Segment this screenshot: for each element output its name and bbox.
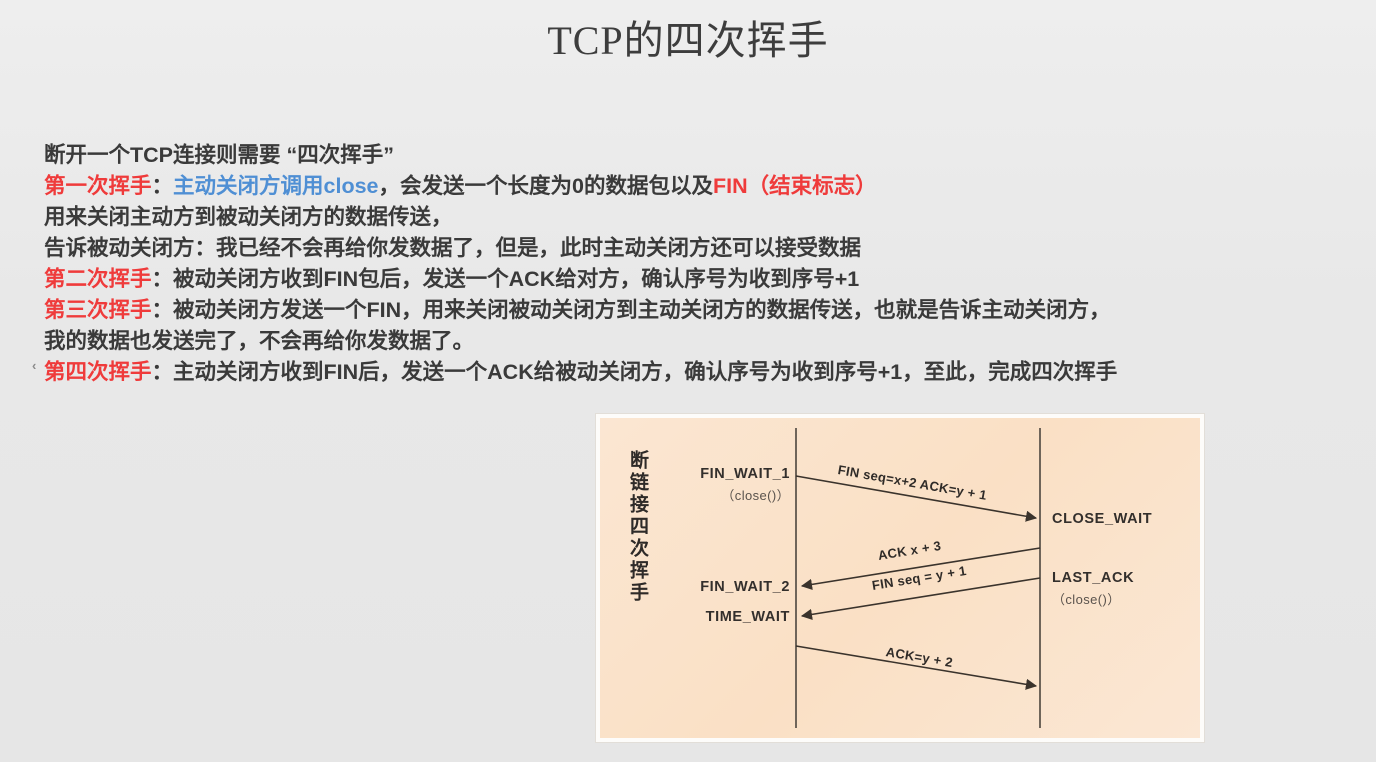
wave2-heading: 第二次挥手 (44, 267, 152, 291)
text-line-wave2: 第二次挥手：被动关闭方收到FIN包后，发送一个ACK给对方，确认序号为收到序号+… (44, 264, 1374, 295)
state-fin-wait-1: FIN_WAIT_1 （close()） (660, 466, 790, 504)
state-label: FIN_WAIT_1 (700, 466, 790, 482)
wave4-heading: 第四次挥手 (44, 360, 152, 384)
page-title: TCP的四次挥手 (0, 8, 1376, 66)
text-segment: 告诉被动关闭方：我已经不会再给你发数据了，但是，此时主动关闭方还可以接受数据 (44, 236, 861, 260)
text-line-wave3-cont: 我的数据也发送完了，不会再给你发数据了。 (44, 326, 1374, 357)
slide-canvas: TCP的四次挥手 断开一个TCP连接则需要 “四次挥手” 第一次挥手：主动关闭方… (0, 0, 1376, 762)
state-label: LAST_ACK (1052, 570, 1134, 586)
text-line-intro: 断开一个TCP连接则需要 “四次挥手” (44, 140, 1374, 171)
state-fin-wait-2: FIN_WAIT_2 (660, 579, 790, 595)
state-sublabel: （close()） (660, 485, 790, 504)
text-segment: 我的数据也发送完了，不会再给你发数据了。 (44, 329, 474, 353)
text-segment: 断开一个TCP连接则需要 “四次挥手” (44, 143, 394, 167)
state-sublabel: （close()） (1052, 589, 1134, 608)
state-label: CLOSE_WAIT (1052, 511, 1152, 527)
text-segment: ：被动关闭方发送一个FIN，用来关闭被动关闭方到主动关闭方的数据传送，也就是告诉… (152, 298, 1111, 322)
text-line-wave1-cont-1: 用来关闭主动方到被动关闭方的数据传送， (44, 202, 1374, 233)
text-segment: ：主动关闭方收到FIN后，发送一个ACK给被动关闭方，确认序号为收到序号+1，至… (152, 360, 1118, 384)
wave1-heading: 第一次挥手 (44, 174, 152, 198)
text-line-wave4: ‹第四次挥手：主动关闭方收到FIN后，发送一个ACK给被动关闭方，确认序号为收到… (44, 357, 1374, 388)
state-label: TIME_WAIT (706, 609, 790, 625)
wave1-blue-phrase: 主动关闭方调用close (173, 174, 378, 198)
diagram-canvas: 断链接四次挥手 FIN_WAIT_1 （close()） FIN_WAIT_2 … (600, 418, 1200, 738)
text-segment: 用来关闭主动方到被动关闭方的数据传送， (44, 205, 453, 229)
text-line-wave3: 第三次挥手：被动关闭方发送一个FIN，用来关闭被动关闭方到主动关闭方的数据传送，… (44, 295, 1374, 326)
text-line-wave1-cont-2: 告诉被动关闭方：我已经不会再给你发数据了，但是，此时主动关闭方还可以接受数据 (44, 233, 1374, 264)
text-line-wave1: 第一次挥手：主动关闭方调用close，会发送一个长度为0的数据包以及FIN（结束… (44, 171, 1374, 202)
text-segment: ：被动关闭方收到FIN包后，发送一个ACK给对方，确认序号为收到序号+1 (152, 267, 860, 291)
wave1-fin-flag: FIN（结束标志） (713, 174, 877, 198)
text-cursor-icon: ‹ (32, 359, 40, 372)
state-time-wait: TIME_WAIT (660, 609, 790, 625)
text-segment: ，会发送一个长度为0的数据包以及 (379, 174, 713, 198)
body-text-block: 断开一个TCP连接则需要 “四次挥手” 第一次挥手：主动关闭方调用close，会… (44, 140, 1374, 388)
wave3-heading: 第三次挥手 (44, 298, 152, 322)
state-close-wait: CLOSE_WAIT (1052, 511, 1152, 527)
state-label: FIN_WAIT_2 (700, 579, 790, 595)
tcp-four-way-handshake-diagram: 断链接四次挥手 FIN_WAIT_1 （close()） FIN_WAIT_2 … (596, 414, 1204, 742)
text-segment: ： (152, 174, 174, 198)
diagram-vertical-label: 断链接四次挥手 (624, 450, 650, 604)
state-last-ack: LAST_ACK （close()） (1052, 570, 1134, 608)
